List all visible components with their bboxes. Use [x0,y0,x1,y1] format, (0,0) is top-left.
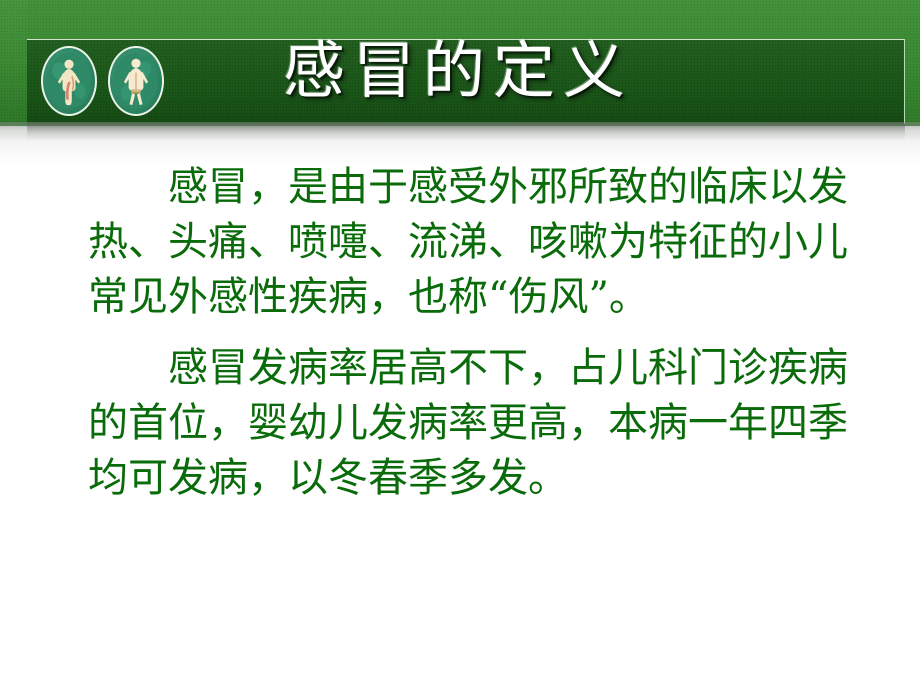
title-plate-drop-shadow [27,124,905,140]
acupuncture-figure-front-icon [41,46,97,116]
header-left-strip [0,0,27,126]
slide-body: 感冒，是由于感受外邪所致的临床以发热、头痛、喷嚏、流涕、咳嗽为特征的小儿常见外感… [0,160,920,506]
acupuncture-figure-back-icon [108,46,164,116]
body-paragraph-definition: 感冒，是由于感受外邪所致的临床以发热、头痛、喷嚏、流涕、咳嗽为特征的小儿常见外感… [0,160,920,325]
header-drop-shadow [0,122,920,164]
page-title: 感冒的定义 [283,34,633,108]
body-paragraph-epidemiology: 感冒发病率居高不下，占儿科门诊疾病的首位，婴幼儿发病率更高，本病一年四季均可发病… [0,341,920,506]
emblem-group [41,46,164,116]
presentation-slide: 感冒的定义 感冒，是由于感受外邪所致的临床以发热、头痛、喷嚏、流涕、咳嗽为特征的… [0,0,920,690]
